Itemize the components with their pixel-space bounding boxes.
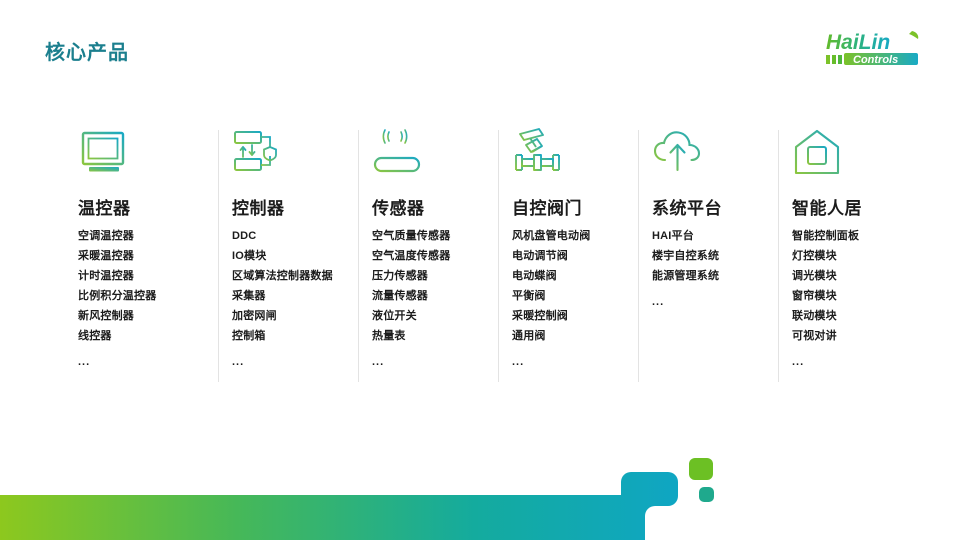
column-item: 能源管理系统	[652, 266, 760, 286]
monitor-thermostat-icon	[78, 128, 130, 178]
svg-text:HaiLin: HaiLin	[826, 31, 890, 54]
column-item: 加密网闸	[232, 306, 340, 326]
column-item: 空气温度传感器	[372, 246, 480, 266]
column-ellipsis: ...	[512, 352, 620, 372]
column-item: 比例积分温控器	[78, 286, 200, 306]
column-item: 灯控模块	[792, 246, 900, 266]
column-title: 温控器	[78, 194, 200, 219]
product-column-valve[interactable]: 自控阀门 风机盘管电动阀 电动调节阀 电动蝶阀 平衡阀 采暖控制阀 通用阀 ..…	[498, 128, 638, 408]
column-title: 自控阀门	[512, 194, 620, 219]
column-item: 计时温控器	[78, 266, 200, 286]
column-ellipsis: ...	[652, 292, 760, 312]
column-item: 联动模块	[792, 306, 900, 326]
column-item: 采暖控制阀	[512, 306, 620, 326]
column-title: 传感器	[372, 194, 480, 219]
column-item: DDC	[232, 226, 340, 246]
column-title: 控制器	[232, 194, 340, 219]
column-item: 智能控制面板	[792, 226, 900, 246]
column-item: 热量表	[372, 326, 480, 346]
column-item: 控制箱	[232, 326, 340, 346]
column-item: 新风控制器	[78, 306, 200, 326]
column-item: 通用阀	[512, 326, 620, 346]
column-item: 流量传感器	[372, 286, 480, 306]
column-item: 压力传感器	[372, 266, 480, 286]
svg-text:Controls: Controls	[853, 54, 898, 66]
control-valve-icon	[512, 128, 564, 178]
product-column-thermostat[interactable]: 温控器 空调温控器 采暖温控器 计时温控器 比例积分温控器 新风控制器 线控器 …	[78, 128, 218, 408]
slide-root: 核心产品 HaiLin Controls	[0, 0, 960, 540]
column-item: 空气质量传感器	[372, 226, 480, 246]
product-column-platform[interactable]: 系统平台 HAI平台 楼宇自控系统 能源管理系统 ...	[638, 128, 778, 408]
wireless-sensor-icon	[372, 128, 424, 178]
column-ellipsis: ...	[792, 352, 900, 372]
column-item: 平衡阀	[512, 286, 620, 306]
product-column-smart-home[interactable]: 智能人居 智能控制面板 灯控模块 调光模块 窗帘模块 联动模块 可视对讲 ...	[778, 128, 918, 408]
product-column-sensor[interactable]: 传感器 空气质量传感器 空气温度传感器 压力传感器 流量传感器 液位开关 热量表…	[358, 128, 498, 408]
column-item: 空调温控器	[78, 226, 200, 246]
column-ellipsis: ...	[232, 352, 340, 372]
footer-decoration	[0, 430, 960, 540]
column-item: 调光模块	[792, 266, 900, 286]
column-item: 采暖温控器	[78, 246, 200, 266]
column-item: 楼宇自控系统	[652, 246, 760, 266]
column-item: 可视对讲	[792, 326, 900, 346]
column-item: 风机盘管电动阀	[512, 226, 620, 246]
column-item: 线控器	[78, 326, 200, 346]
column-item: HAI平台	[652, 226, 760, 246]
column-item: 区域算法控制器数据采集器	[232, 266, 340, 306]
column-item: 窗帘模块	[792, 286, 900, 306]
column-title: 智能人居	[792, 194, 900, 219]
column-ellipsis: ...	[78, 352, 200, 372]
column-item: IO模块	[232, 246, 340, 266]
product-columns: 温控器 空调温控器 采暖温控器 计时温控器 比例积分温控器 新风控制器 线控器 …	[78, 128, 908, 408]
column-item: 电动调节阀	[512, 246, 620, 266]
cloud-upload-icon	[652, 128, 704, 178]
product-column-controller[interactable]: 控制器 DDC IO模块 区域算法控制器数据采集器 加密网闸 控制箱 ...	[218, 128, 358, 408]
column-title: 系统平台	[652, 194, 760, 219]
column-item: 液位开关	[372, 306, 480, 326]
controller-rack-icon	[232, 128, 284, 178]
page-title: 核心产品	[45, 36, 129, 65]
hailin-logo: HaiLin Controls	[808, 28, 932, 68]
column-item: 电动蝶阀	[512, 266, 620, 286]
smart-home-chip-icon	[792, 128, 844, 178]
column-ellipsis: ...	[372, 352, 480, 372]
